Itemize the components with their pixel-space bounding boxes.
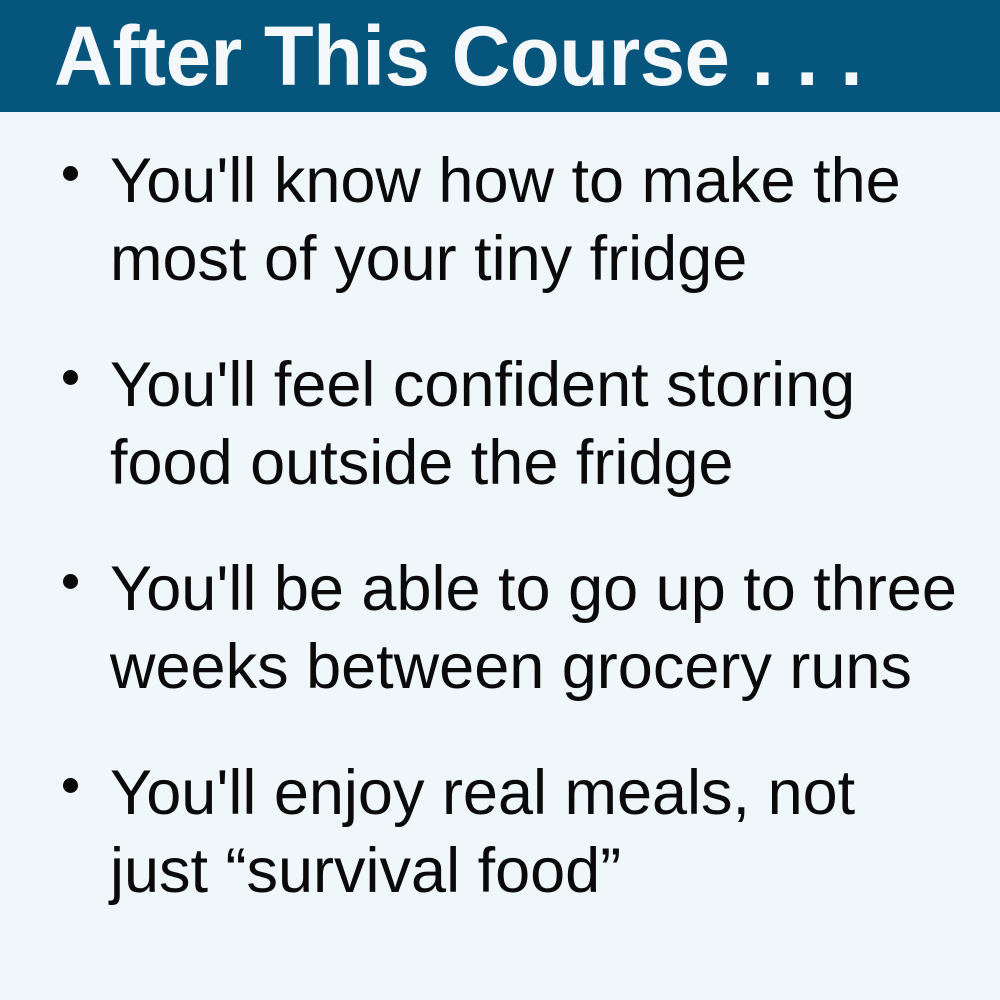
bullet-dot-icon	[63, 166, 78, 181]
list-item-label: You'll enjoy real meals, not just “survi…	[110, 754, 960, 910]
bullet-dot-icon	[63, 370, 78, 385]
list-item: You'll feel confident storing food outsi…	[40, 346, 960, 502]
bullet-list: You'll know how to make the most of your…	[40, 142, 960, 910]
bullet-dot-icon	[63, 778, 78, 793]
list-item: You'll know how to make the most of your…	[40, 142, 960, 298]
slide-header-bar: After This Course . . .	[0, 0, 1000, 112]
bullet-dot-icon	[63, 574, 78, 589]
list-item-label: You'll know how to make the most of your…	[110, 142, 960, 298]
slide-body: You'll know how to make the most of your…	[0, 112, 1000, 1000]
page-title: After This Course . . .	[54, 10, 862, 102]
list-item: You'll be able to go up to three weeks b…	[40, 550, 960, 706]
list-item-label: You'll be able to go up to three weeks b…	[110, 550, 960, 706]
list-item: You'll enjoy real meals, not just “survi…	[40, 754, 960, 910]
list-item-label: You'll feel confident storing food outsi…	[110, 346, 960, 502]
slide-container: After This Course . . . You'll know how …	[0, 0, 1000, 1000]
